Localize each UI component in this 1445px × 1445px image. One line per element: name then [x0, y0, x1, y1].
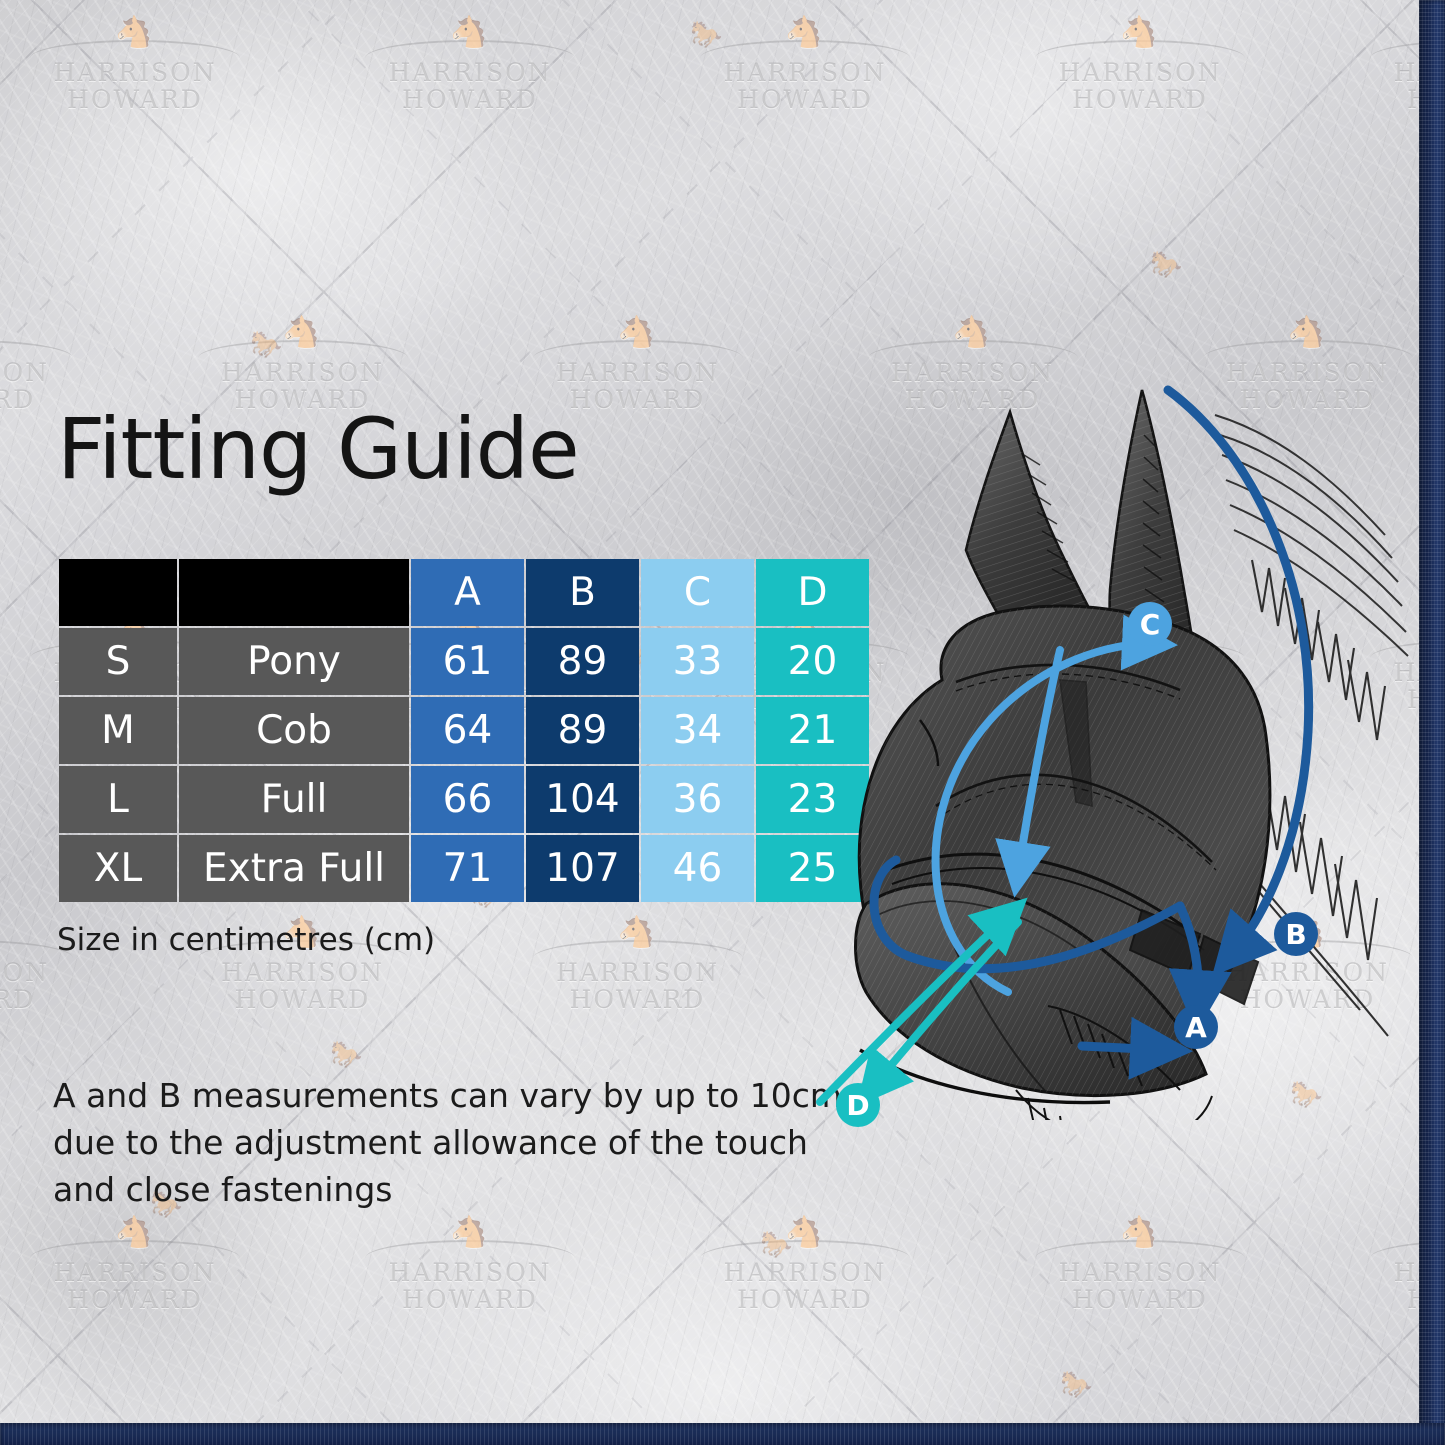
cell-b: 104 [526, 766, 639, 833]
cell-b: 89 [526, 628, 639, 695]
cell-name: Cob [179, 697, 409, 764]
header-cell-c: C [641, 559, 754, 626]
cell-name: Full [179, 766, 409, 833]
left-ear [966, 412, 1090, 618]
header-cell-name-blank [179, 559, 409, 626]
cell-size: S [59, 628, 177, 695]
bottom-border-strip [0, 1423, 1445, 1445]
cell-size: M [59, 697, 177, 764]
horse-mask-illustration: C A B D [760, 250, 1445, 1120]
cell-b: 89 [526, 697, 639, 764]
cell-b: 107 [526, 835, 639, 902]
unit-note: Size in centimetres (cm) [57, 922, 435, 958]
disclaimer-text: A and B measurements can vary by up to 1… [53, 1073, 843, 1214]
cell-a: 66 [411, 766, 524, 833]
header-cell-b: B [526, 559, 639, 626]
cell-name: Extra Full [179, 835, 409, 902]
page-title: Fitting Guide [57, 400, 579, 498]
cell-size: L [59, 766, 177, 833]
cell-a: 61 [411, 628, 524, 695]
cell-c: 33 [641, 628, 754, 695]
header-cell-size-blank [59, 559, 177, 626]
table-row: L Full 66 104 36 23 [59, 766, 869, 833]
cell-a: 64 [411, 697, 524, 764]
table-row: XL Extra Full 71 107 46 25 [59, 835, 869, 902]
table-row: S Pony 61 89 33 20 [59, 628, 869, 695]
cell-c: 46 [641, 835, 754, 902]
horse-head-diagram [760, 250, 1445, 1120]
size-chart-table: A B C D S Pony 61 89 33 20 M Cob 64 89 3… [57, 557, 871, 904]
cell-a: 71 [411, 835, 524, 902]
table-header-row: A B C D [59, 559, 869, 626]
cell-name: Pony [179, 628, 409, 695]
marker-badge-d: D [836, 1083, 880, 1127]
cell-c: 34 [641, 697, 754, 764]
measure-pointer-a [1082, 1046, 1166, 1050]
cell-c: 36 [641, 766, 754, 833]
table-row: M Cob 64 89 34 21 [59, 697, 869, 764]
marker-badge-a: A [1174, 1005, 1218, 1049]
cell-size: XL [59, 835, 177, 902]
header-cell-a: A [411, 559, 524, 626]
mane-strokes [1215, 415, 1408, 656]
marker-badge-b: B [1274, 912, 1318, 956]
marker-badge-c: C [1128, 602, 1172, 646]
